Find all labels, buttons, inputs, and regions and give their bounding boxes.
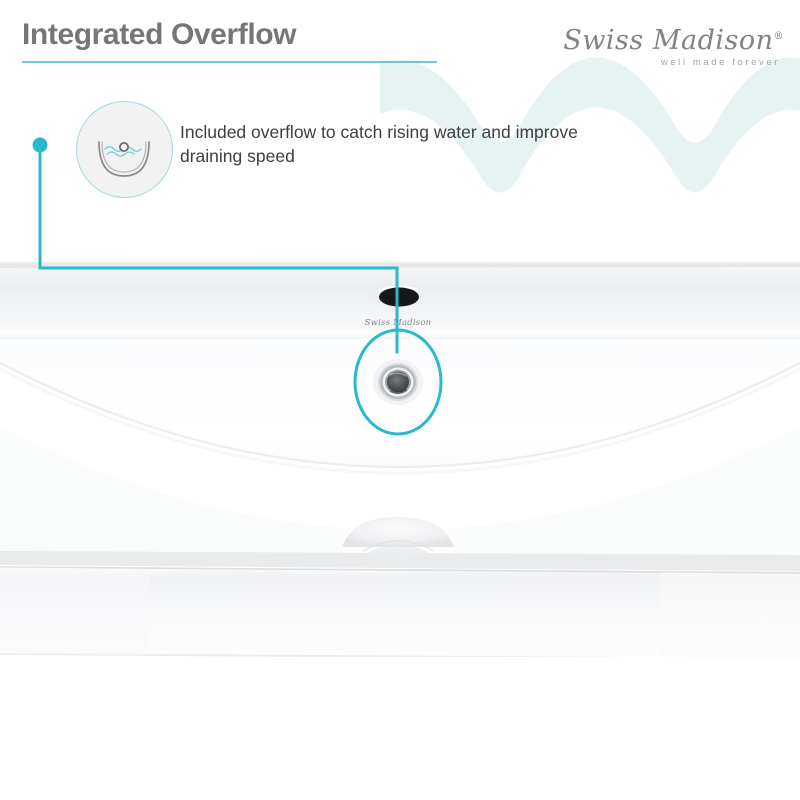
brand-tagline: well made forever	[552, 57, 780, 68]
callout-origin-dot	[33, 138, 48, 153]
page-title: Integrated Overflow	[22, 18, 296, 52]
sink-overflow-icon	[76, 101, 173, 198]
product-feature-graphic: Integrated Overflow Swiss Madison® well …	[0, 0, 800, 800]
title-underline	[22, 61, 437, 63]
brand-name: Swiss Madison®	[552, 22, 784, 56]
feature-description: Included overflow to catch rising water …	[180, 120, 580, 168]
faucet-hole	[379, 288, 419, 307]
sink-product-image: Swiss Madison	[0, 255, 800, 675]
stamped-brand-logo: Swiss Madison	[365, 318, 432, 328]
brand-name-text: Swiss Madison	[563, 25, 773, 56]
registered-mark-icon: ®	[774, 31, 785, 42]
brand-logo: Swiss Madison® well made forever	[552, 22, 784, 74]
